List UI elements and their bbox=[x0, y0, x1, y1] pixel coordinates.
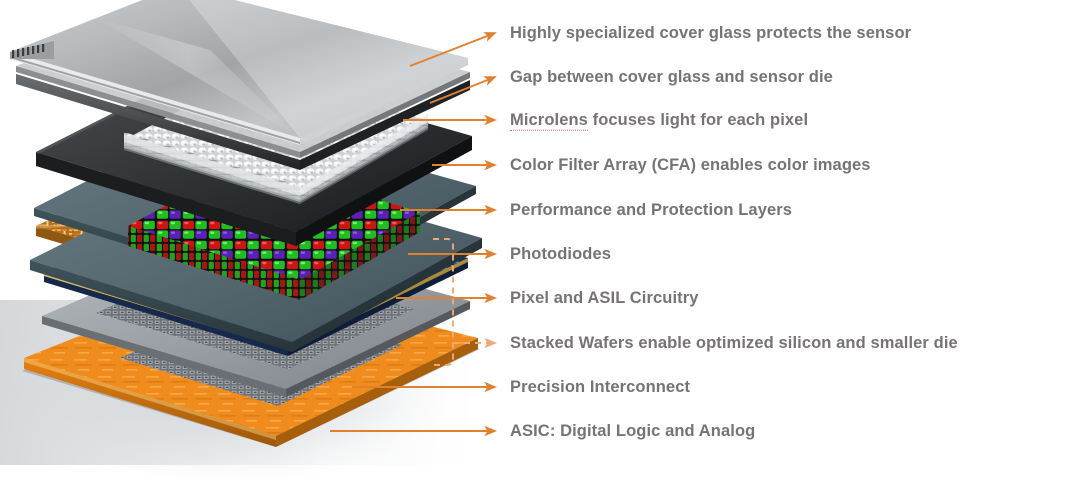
label-photodiodes: Photodiodes bbox=[510, 246, 611, 263]
callout-label-layer: Highly specialized cover glass protects … bbox=[0, 0, 1080, 465]
label-microlens-rest: focuses light for each pixel bbox=[588, 111, 808, 129]
label-color-filter-array: Color Filter Array (CFA) enables color i… bbox=[510, 157, 871, 174]
label-performance-layers: Performance and Protection Layers bbox=[510, 202, 792, 219]
label-precision-interconnect: Precision Interconnect bbox=[510, 379, 690, 396]
label-cover-glass: Highly specialized cover glass protects … bbox=[510, 25, 911, 42]
figure-canvas: Highly specialized cover glass protects … bbox=[0, 0, 1080, 465]
label-asic: ASIC: Digital Logic and Analog bbox=[510, 423, 755, 440]
label-microlens-term: Microlens bbox=[510, 111, 588, 131]
label-stacked-wafers: Stacked Wafers enable optimized silicon … bbox=[510, 335, 958, 352]
label-microlens: Microlens focuses light for each pixel bbox=[510, 112, 808, 129]
label-pixel-asil-circuitry: Pixel and ASIL Circuitry bbox=[510, 290, 699, 307]
label-gap: Gap between cover glass and sensor die bbox=[510, 69, 833, 86]
